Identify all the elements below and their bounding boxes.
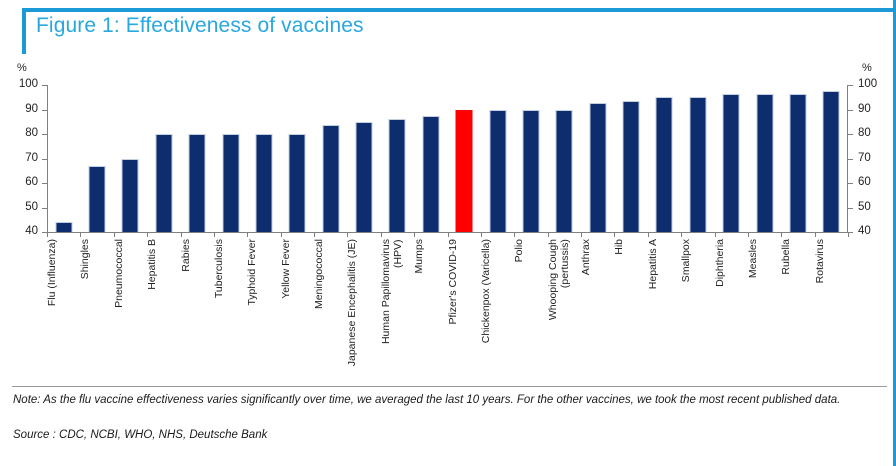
y-tick-label: 90	[858, 104, 884, 116]
x-tick-label: Human Papillomavirus (HPV)	[381, 239, 414, 344]
bar-slot	[781, 85, 814, 232]
x-tick-label: Polio	[514, 239, 547, 262]
bar	[489, 110, 506, 233]
x-tick-label: Diphtheria	[715, 239, 748, 287]
x-tick-mark	[614, 232, 615, 237]
bar-slot	[47, 85, 80, 232]
chart-note: Note: As the flu vaccine effectiveness v…	[13, 393, 879, 409]
bar	[322, 125, 339, 232]
x-tick-mark	[381, 232, 382, 237]
y-tick-mark	[848, 159, 853, 160]
x-tick-label: Hib	[614, 239, 647, 255]
y-tick-mark	[848, 183, 853, 184]
bar	[356, 122, 373, 232]
y-tick-label: 90	[12, 104, 38, 116]
y-tick-label: 70	[858, 153, 884, 165]
x-axis-labels: Flu (Influenza)ShinglesPneumococcalHepat…	[47, 239, 848, 369]
y-tick-label: 60	[12, 177, 38, 189]
y-tick-mark	[848, 85, 853, 86]
bar	[589, 103, 606, 232]
x-tick-mark	[781, 232, 782, 237]
x-tick-mark	[247, 232, 248, 237]
bar-slot	[414, 85, 447, 232]
x-tick-mark	[815, 232, 816, 237]
bar-slot	[381, 85, 414, 232]
y-tick-label: 80	[12, 128, 38, 140]
bar-slot	[815, 85, 848, 232]
bar	[289, 134, 306, 232]
bar-slot	[514, 85, 547, 232]
x-tick-mark	[281, 232, 282, 237]
bar	[522, 110, 539, 233]
bar-slot	[114, 85, 147, 232]
bar-slot	[748, 85, 781, 232]
bar	[222, 134, 239, 232]
bar-slot	[681, 85, 714, 232]
bar-slot	[448, 85, 481, 232]
bar-slot	[147, 85, 180, 232]
y-tick-mark	[848, 110, 853, 111]
x-tick-label: Japanese Encephalitis (JE)	[347, 239, 380, 366]
x-tick-label: Hepatitis A	[648, 239, 681, 289]
x-tick-label: Measles	[748, 239, 781, 278]
figure-container: Figure 1: Effectiveness of vaccines % % …	[0, 0, 896, 466]
bar	[623, 101, 640, 232]
bar	[122, 159, 139, 233]
x-tick-label: Meningococcal	[314, 239, 347, 309]
bar	[89, 166, 106, 232]
x-tick-label: Anthrax	[581, 239, 614, 275]
bar	[55, 222, 72, 232]
y-tick-label: 50	[12, 202, 38, 214]
y-tick-label: 40	[12, 226, 38, 238]
bar-slot	[80, 85, 113, 232]
header-rule	[22, 8, 893, 12]
bar	[389, 119, 406, 232]
x-tick-mark	[347, 232, 348, 237]
x-tick-mark	[581, 232, 582, 237]
bar	[255, 134, 272, 232]
bar-slot	[648, 85, 681, 232]
x-tick-mark	[214, 232, 215, 237]
bar	[189, 134, 206, 232]
x-tick-mark	[80, 232, 81, 237]
y-tick-label: 100	[858, 79, 884, 91]
x-tick-mark	[548, 232, 549, 237]
bar-slot	[347, 85, 380, 232]
y-tick-label: 70	[12, 153, 38, 165]
bar	[723, 94, 740, 232]
bar-series	[47, 85, 848, 232]
chart-source: Source : CDC, NCBI, WHO, NHS, Deutsche B…	[13, 428, 267, 444]
x-tick-mark	[648, 232, 649, 237]
y-tick-label: 50	[858, 202, 884, 214]
bar-slot	[715, 85, 748, 232]
y-tick-mark	[848, 134, 853, 135]
bar	[756, 94, 773, 232]
x-tick-mark	[848, 232, 849, 237]
x-tick-label: Tuberculosis	[214, 239, 247, 298]
x-tick-mark	[414, 232, 415, 237]
bar	[556, 110, 573, 233]
y-tick-label: 40	[858, 226, 884, 238]
bar-slot	[581, 85, 614, 232]
bar	[823, 91, 840, 232]
x-tick-mark	[514, 232, 515, 237]
y-tick-label: 100	[12, 79, 38, 91]
bar-slot	[214, 85, 247, 232]
bar	[422, 116, 439, 232]
x-tick-mark	[448, 232, 449, 237]
x-tick-mark	[314, 232, 315, 237]
x-tick-label: Typhoid Fever	[247, 239, 280, 306]
x-tick-label: Rubella	[781, 239, 814, 275]
x-tick-label: Whooping Cough (pertussis)	[548, 239, 581, 320]
x-tick-mark	[748, 232, 749, 237]
x-tick-label: Yellow Fever	[281, 239, 314, 299]
y-axis-unit-right: %	[862, 62, 872, 74]
x-tick-label: Rabies	[181, 239, 214, 272]
x-tick-mark	[681, 232, 682, 237]
page-title: Figure 1: Effectiveness of vaccines	[36, 14, 364, 38]
x-tick-label: Mumps	[414, 239, 447, 273]
bar	[656, 97, 673, 232]
x-tick-mark	[715, 232, 716, 237]
x-tick-label: Chickenpox (Varicella)	[481, 239, 514, 343]
x-tick-label: Pfizer's COVID-19	[448, 239, 481, 324]
bar-slot	[614, 85, 647, 232]
x-tick-mark	[181, 232, 182, 237]
bar-slot	[548, 85, 581, 232]
x-tick-label: Pneumococcal	[114, 239, 147, 308]
x-tick-mark	[481, 232, 482, 237]
x-tick-label: Shingles	[80, 239, 113, 279]
bar	[689, 97, 706, 232]
bar-slot	[314, 85, 347, 232]
chart-plot-area: % % 100100909080807070606050504040 Flu (…	[0, 62, 896, 372]
x-tick-mark	[147, 232, 148, 237]
y-axis-unit-left: %	[17, 62, 27, 74]
x-tick-label: Rotavirus	[815, 239, 848, 283]
bar	[789, 94, 806, 232]
x-tick-label: Flu (Influenza)	[47, 239, 80, 306]
y-tick-label: 60	[858, 177, 884, 189]
footer-rule	[12, 386, 887, 387]
y-tick-label: 80	[858, 128, 884, 140]
bar-slot	[181, 85, 214, 232]
bar	[155, 134, 172, 232]
title-accent-bar	[22, 12, 26, 54]
bar-slot	[247, 85, 280, 232]
bar-slot	[281, 85, 314, 232]
bar	[456, 110, 473, 233]
x-tick-label: Hepatitis B	[147, 239, 180, 290]
y-tick-mark	[848, 208, 853, 209]
x-tick-label: Smallpox	[681, 239, 714, 282]
x-tick-mark	[114, 232, 115, 237]
x-tick-mark	[47, 232, 48, 237]
bar-slot	[481, 85, 514, 232]
